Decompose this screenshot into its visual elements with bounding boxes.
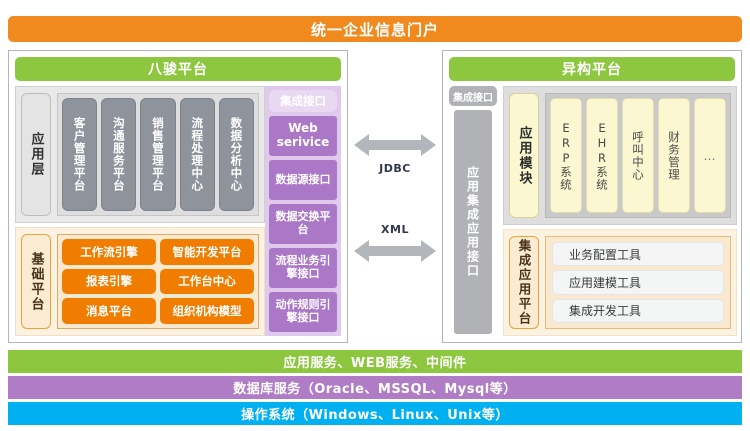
- base-platform-zone: 基础平台 工作流引擎 智能开发平台 报表引擎 工作台中心 消息平台 组织机构模型: [15, 227, 265, 336]
- connector-jdbc: JDBC: [354, 134, 436, 179]
- tool-integration-development[interactable]: 集成开发工具: [552, 299, 724, 323]
- module-ehr[interactable]: EHR系统: [586, 98, 618, 213]
- app-column-data-analysis[interactable]: 数据分析中心: [219, 98, 254, 211]
- bar-database-services: 数据库服务（Oracle、MSSQL、Mysql等）: [8, 376, 742, 399]
- base-button-smart-dev-platform[interactable]: 智能开发平台: [160, 239, 254, 265]
- interface-item-data-exchange[interactable]: 数据交换平台: [269, 204, 337, 244]
- right-panel-title-text: 异构平台: [562, 59, 622, 79]
- application-layer-columns: 客户管理平台 沟通服务平台 销售管理平台 流程处理中心 数据分析中心: [57, 93, 259, 216]
- application-modules-columns: ERP系统 EHR系统 呼叫中心 财务管理 …: [545, 93, 731, 218]
- app-column-customer[interactable]: 客户管理平台: [62, 98, 97, 211]
- integration-platform-zone: 集成应用平台 业务配置工具 应用建模工具 集成开发工具: [503, 229, 737, 336]
- portal-title-text: 统一企业信息门户: [311, 19, 439, 40]
- interface-item-datasource[interactable]: 数据源接口: [269, 160, 337, 200]
- diagram-stage: 八骏平台 应用层 客户管理平台 沟通服务平台 销售管理平台 流程处理中心 数据分…: [8, 50, 742, 343]
- bar-database-services-text: 数据库服务（Oracle、MSSQL、Mysql等）: [233, 378, 517, 397]
- interface-item-web-service[interactable]: Web serivice: [269, 116, 337, 156]
- infrastructure-bars: 应用服务、WEB服务、中间件 数据库服务（Oracle、MSSQL、Mysql等…: [8, 350, 742, 425]
- right-integration-interface-header: 集成接口: [449, 86, 497, 106]
- right-panel-title: 异构平台: [449, 57, 735, 81]
- app-column-communication[interactable]: 沟通服务平台: [101, 98, 136, 211]
- bar-operating-system-text: 操作系统（Windows、Linux、Unix等）: [241, 404, 509, 423]
- xml-label: XML: [354, 223, 436, 236]
- interface-item-action-rule-engine[interactable]: 动作规则引擎接口: [269, 292, 337, 332]
- application-layer-label: 应用层: [21, 93, 51, 216]
- base-button-org-model[interactable]: 组织机构模型: [160, 298, 254, 324]
- base-platform-grid: 工作流引擎 智能开发平台 报表引擎 工作台中心 消息平台 组织机构模型: [57, 234, 259, 329]
- module-erp[interactable]: ERP系统: [550, 98, 582, 213]
- base-button-message-platform[interactable]: 消息平台: [62, 298, 156, 324]
- left-panel-title-text: 八骏平台: [148, 59, 208, 79]
- left-integration-interface-header: 集成接口: [269, 90, 337, 112]
- integration-tools-list: 业务配置工具 应用建模工具 集成开发工具: [545, 236, 731, 329]
- base-button-workbench-center[interactable]: 工作台中心: [160, 269, 254, 295]
- bar-application-services-text: 应用服务、WEB服务、中间件: [283, 352, 466, 371]
- xml-arrow-icon: [354, 240, 436, 262]
- left-panel-body: 应用层 客户管理平台 沟通服务平台 销售管理平台 流程处理中心 数据分析中心 基…: [15, 86, 341, 336]
- jdbc-arrow-icon: [354, 134, 436, 156]
- right-platform-panel: 异构平台 集成接口 应用集成应用接口 应用模块 ERP系统 EHR系统 呼叫中心…: [442, 50, 742, 343]
- right-application-integration-interface[interactable]: 应用集成应用接口: [454, 110, 492, 334]
- connector-xml: XML: [354, 217, 436, 262]
- tool-application-modeling[interactable]: 应用建模工具: [552, 270, 724, 294]
- base-button-report-engine[interactable]: 报表引擎: [62, 269, 156, 295]
- application-modules-label: 应用模块: [509, 93, 539, 218]
- module-finance[interactable]: 财务管理: [658, 98, 690, 213]
- right-panel-body: 集成接口 应用集成应用接口 应用模块 ERP系统 EHR系统 呼叫中心 财务管理…: [449, 86, 735, 336]
- application-layer-zone: 应用层 客户管理平台 沟通服务平台 销售管理平台 流程处理中心 数据分析中心: [15, 86, 265, 223]
- base-button-workflow-engine[interactable]: 工作流引擎: [62, 239, 156, 265]
- module-more-ellipsis[interactable]: …: [694, 98, 726, 213]
- app-column-sales[interactable]: 销售管理平台: [140, 98, 175, 211]
- integration-platform-label: 集成应用平台: [509, 236, 539, 329]
- module-call-center[interactable]: 呼叫中心: [622, 98, 654, 213]
- tool-business-config[interactable]: 业务配置工具: [552, 242, 724, 266]
- bar-application-services: 应用服务、WEB服务、中间件: [8, 350, 742, 373]
- jdbc-label: JDBC: [354, 162, 436, 175]
- application-modules-zone: 应用模块 ERP系统 EHR系统 呼叫中心 财务管理 …: [503, 86, 737, 225]
- left-panel-title: 八骏平台: [15, 57, 341, 81]
- left-integration-interface-column: 集成接口 Web serivice 数据源接口 数据交换平台 流程业务引擎接口 …: [265, 86, 341, 336]
- bar-operating-system: 操作系统（Windows、Linux、Unix等）: [8, 402, 742, 425]
- connector-area: JDBC XML: [348, 50, 442, 343]
- interface-item-process-engine[interactable]: 流程业务引擎接口: [269, 248, 337, 288]
- left-platform-panel: 八骏平台 应用层 客户管理平台 沟通服务平台 销售管理平台 流程处理中心 数据分…: [8, 50, 348, 343]
- architecture-diagram: 统一企业信息门户 八骏平台 应用层 客户管理平台 沟通服务平台 销售管理平台 流…: [0, 0, 750, 431]
- portal-title-bar: 统一企业信息门户: [8, 16, 742, 42]
- base-platform-label: 基础平台: [21, 234, 51, 329]
- app-column-process[interactable]: 流程处理中心: [180, 98, 215, 211]
